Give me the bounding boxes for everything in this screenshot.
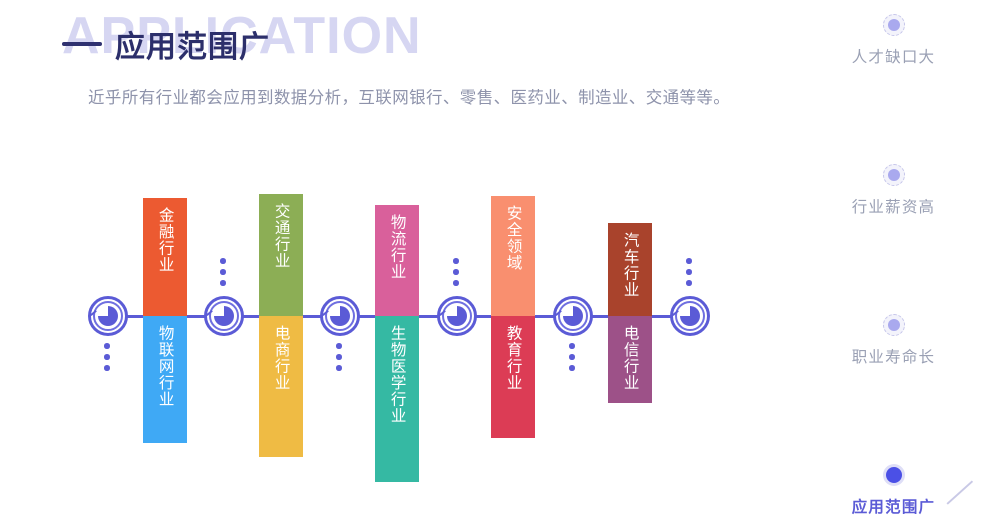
industry-timeline-chart: 金融行业物联网行业交通行业电商行业物流行业生物医学行业安全领域教育行业汽车行业电… [0, 0, 800, 525]
timeline-node-1[interactable] [88, 296, 128, 336]
industry-bar-label: 教育行业 [504, 316, 521, 391]
dot-icon [569, 365, 575, 371]
industry-bar-label: 电信行业 [621, 316, 638, 391]
node-pie-icon [447, 306, 467, 326]
nav-dot-core-icon [888, 319, 900, 331]
nav-dot-core-icon [888, 169, 900, 181]
corner-slash-icon [947, 489, 977, 519]
industry-bar[interactable]: 电商行业 [259, 316, 303, 457]
ellipsis-dots-4 [453, 258, 459, 286]
nav-dot-core-icon [886, 467, 902, 483]
dot-icon [104, 343, 110, 349]
node-pie-icon [330, 306, 350, 326]
industry-bar[interactable]: 教育行业 [491, 316, 535, 438]
nav-item-label: 应用范围广 [852, 495, 936, 517]
dot-icon [336, 365, 342, 371]
industry-bar[interactable]: 物流行业 [375, 205, 419, 316]
nav-item-3[interactable]: 职业寿命长 [800, 314, 987, 367]
industry-bar[interactable]: 交通行业 [259, 194, 303, 316]
industry-bar-label: 金融行业 [156, 198, 173, 273]
ellipsis-dots-1 [104, 343, 110, 371]
dot-icon [569, 343, 575, 349]
nav-item-label: 行业薪资高 [852, 195, 936, 217]
dot-icon [220, 258, 226, 264]
section-nav: 人才缺口大行业薪资高职业寿命长应用范围广 [800, 0, 987, 525]
node-pie-icon [214, 306, 234, 326]
industry-bar-label: 安全领域 [504, 196, 521, 271]
node-pie-icon [98, 306, 118, 326]
industry-bar[interactable]: 电信行业 [608, 316, 652, 403]
nav-dot-core-icon [888, 19, 900, 31]
ellipsis-dots-3 [336, 343, 342, 371]
dot-icon [453, 280, 459, 286]
industry-bar[interactable]: 生物医学行业 [375, 316, 419, 482]
industry-bar-label: 电商行业 [272, 316, 289, 391]
node-pie-icon [680, 306, 700, 326]
industry-bar-label: 生物医学行业 [388, 316, 405, 424]
dot-icon [336, 354, 342, 360]
timeline-node-2[interactable] [204, 296, 244, 336]
nav-dot-icon [883, 464, 905, 486]
dot-icon [104, 365, 110, 371]
dot-icon [336, 343, 342, 349]
dot-icon [453, 258, 459, 264]
node-pie-icon [563, 306, 583, 326]
nav-item-label: 职业寿命长 [852, 345, 936, 367]
industry-bar-label: 物流行业 [388, 205, 405, 280]
nav-dot-icon [883, 14, 905, 36]
ellipsis-dots-6 [686, 258, 692, 286]
timeline-node-6[interactable] [670, 296, 710, 336]
dot-icon [220, 280, 226, 286]
nav-item-1[interactable]: 人才缺口大 [800, 14, 987, 67]
nav-item-2[interactable]: 行业薪资高 [800, 164, 987, 217]
timeline-node-5[interactable] [553, 296, 593, 336]
dot-icon [686, 258, 692, 264]
dot-icon [686, 280, 692, 286]
dot-icon [686, 269, 692, 275]
timeline-node-4[interactable] [437, 296, 477, 336]
nav-dot-icon [883, 314, 905, 336]
industry-bar[interactable]: 金融行业 [143, 198, 187, 316]
ellipsis-dots-2 [220, 258, 226, 286]
timeline-node-3[interactable] [320, 296, 360, 336]
industry-bar-label: 物联网行业 [156, 316, 173, 408]
dot-icon [453, 269, 459, 275]
industry-bar[interactable]: 安全领域 [491, 196, 535, 316]
dot-icon [104, 354, 110, 360]
industry-bar-label: 交通行业 [272, 194, 289, 269]
dot-icon [220, 269, 226, 275]
ellipsis-dots-5 [569, 343, 575, 371]
slide-root: APPLICATION 应用范围广 近乎所有行业都会应用到数据分析，互联网银行、… [0, 0, 987, 525]
industry-bar[interactable]: 物联网行业 [143, 316, 187, 443]
nav-dot-icon [883, 164, 905, 186]
nav-item-label: 人才缺口大 [852, 45, 936, 67]
industry-bar[interactable]: 汽车行业 [608, 223, 652, 316]
industry-bar-label: 汽车行业 [621, 223, 638, 298]
dot-icon [569, 354, 575, 360]
